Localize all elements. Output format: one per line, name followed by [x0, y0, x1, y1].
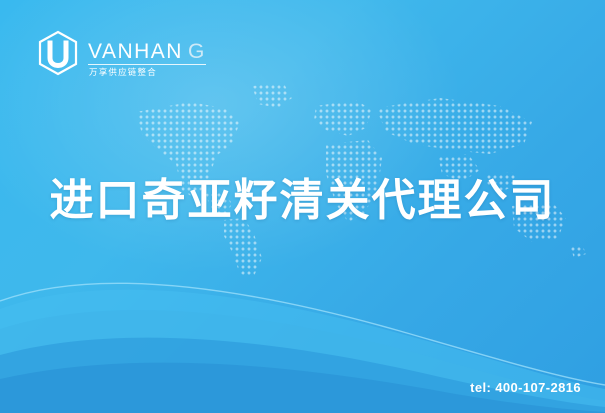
logo: VANHAN G 万享供应链整合: [36, 30, 226, 82]
vanhang-u-shield-logo: [40, 32, 76, 74]
contact-phone: tel: 400-107-2816: [470, 380, 581, 395]
logo-subtitle: 万享供应链整合: [89, 67, 157, 78]
promo-banner: VANHAN G 万享供应链整合 进口奇亚籽清关代理公司 tel: 400-10…: [0, 0, 605, 413]
logo-wordmark: VANHAN: [88, 40, 183, 63]
logo-wordmark-g: G: [188, 40, 206, 63]
logo-divider: [88, 64, 206, 65]
